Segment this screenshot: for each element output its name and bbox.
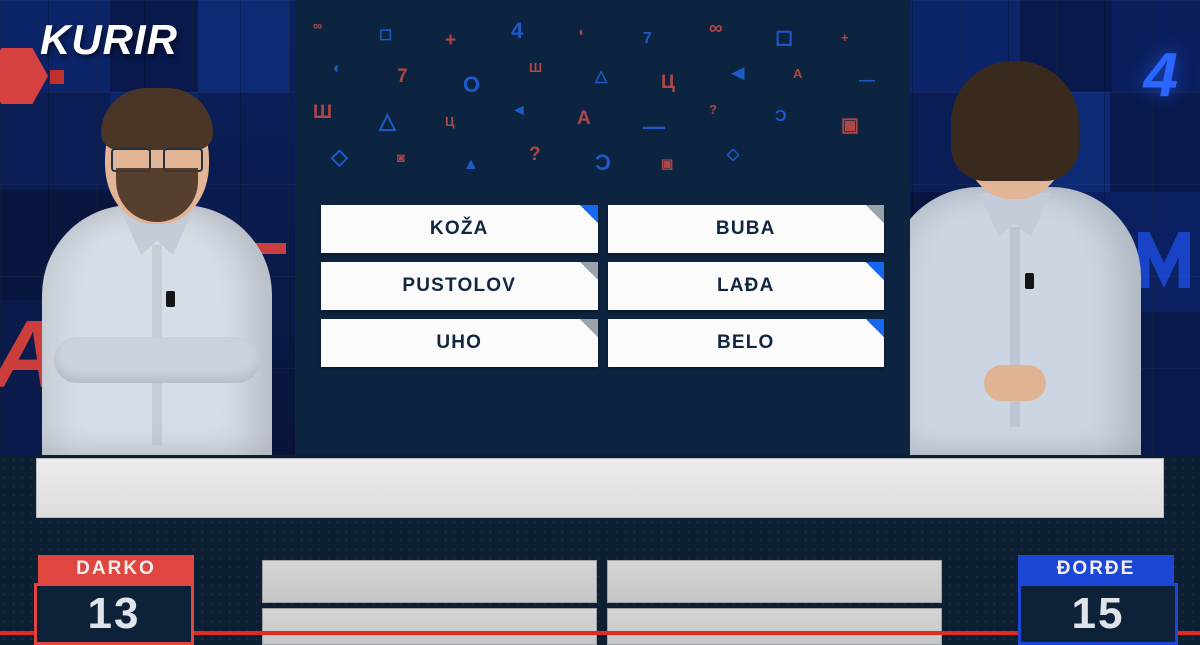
decor-symbol-icon: ◄ xyxy=(511,102,527,120)
decor-symbol-icon: + xyxy=(841,30,849,45)
decor-symbol-icon: ◖ xyxy=(577,24,585,39)
question-ticker xyxy=(36,458,1164,518)
beard xyxy=(116,168,198,222)
decor-symbol-icon: ▣ xyxy=(661,156,673,172)
decor-symbol-icon: — xyxy=(859,72,875,90)
lapel-mic-icon xyxy=(1025,273,1034,289)
card-corner-marker xyxy=(866,262,884,280)
decor-symbol-icon: 4 xyxy=(511,18,523,44)
decor-symbol-icon: ▲ xyxy=(463,156,479,174)
word-card[interactable]: BUBA xyxy=(608,205,885,253)
decor-symbol-icon: ◻ xyxy=(379,24,392,44)
decor-symbol-icon: ? xyxy=(709,102,717,117)
scoreboard-left: DARKO 13 xyxy=(34,555,194,645)
decor-symbol-icon: ◙ xyxy=(397,150,405,165)
decor-symbol-icon: Ɔ xyxy=(775,108,787,126)
contestant-right xyxy=(890,55,1140,455)
word-card-label: BELO xyxy=(717,332,775,354)
player-name-right: ĐORĐE xyxy=(1018,555,1174,583)
decor-symbol-icon: ◄ xyxy=(727,60,749,86)
decor-symbol-icon: Ш xyxy=(313,102,332,124)
crossed-arms xyxy=(54,337,260,383)
decor-symbol-icon: ? xyxy=(529,144,541,166)
decor-symbol-icon: Ɔ xyxy=(595,150,611,176)
hair xyxy=(951,61,1079,181)
decor-symbol-icon: Ц xyxy=(661,72,675,94)
contestant-left xyxy=(32,70,282,455)
word-card[interactable]: UHO xyxy=(321,319,598,367)
word-card-label: UHO xyxy=(436,332,482,354)
channel-logo: 4 xyxy=(1144,40,1178,111)
lapel-mic-icon xyxy=(166,291,175,307)
card-corner-marker xyxy=(866,205,884,223)
decor-symbol-icon: ∞ xyxy=(709,18,723,40)
decor-symbol-icon: — xyxy=(643,114,665,140)
card-corner-marker xyxy=(580,319,598,337)
decor-symbol-icon: △ xyxy=(379,108,396,134)
word-card-label: BUBA xyxy=(716,218,776,240)
card-corner-marker xyxy=(580,262,598,280)
decor-symbol-icon: A xyxy=(577,108,591,130)
word-card[interactable]: BELO xyxy=(608,319,885,367)
player-score-right: 15 xyxy=(1018,583,1178,645)
broadcast-frame: A 4 KURIR xyxy=(0,0,1200,645)
decor-symbol-icon: ◇ xyxy=(727,144,739,164)
head xyxy=(105,94,209,224)
player-score-left: 13 xyxy=(34,583,194,645)
answer-box xyxy=(262,560,597,603)
decor-symbol-icon: 7 xyxy=(643,30,652,48)
decor-symbol-icon: ◻ xyxy=(775,24,793,50)
decor-symbol-icon: 7 xyxy=(397,66,408,88)
word-card-label: LAĐA xyxy=(717,275,775,297)
quiz-board: ∞◻+4◖7∞◻+◖7ΟШ△Ц◄A—Ш△Ц◄A—?Ɔ▣◇◙▲?Ɔ▣◇ KOŽAB… xyxy=(295,0,910,455)
word-card[interactable]: LAĐA xyxy=(608,262,885,310)
answer-box xyxy=(607,560,942,603)
decor-symbol-icon: Ш xyxy=(529,60,542,75)
decor-symbol-icon: ▣ xyxy=(841,114,859,137)
card-corner-marker xyxy=(580,205,598,223)
decor-symbol-icon: Ц xyxy=(445,114,455,129)
decor-symbol-icon: Ο xyxy=(463,72,480,98)
decor-symbol-icon: + xyxy=(445,30,456,52)
word-card[interactable]: KOŽA xyxy=(321,205,598,253)
word-card-label: PUSTOLOV xyxy=(402,275,516,297)
player-name-left: DARKO xyxy=(38,555,194,583)
glasses-icon xyxy=(111,148,203,168)
hair xyxy=(101,88,213,150)
decor-symbol-icon: A xyxy=(793,66,802,81)
decorative-symbol-pattern: ∞◻+4◖7∞◻+◖7ΟШ△Ц◄A—Ш△Ц◄A—?Ɔ▣◇◙▲?Ɔ▣◇ xyxy=(295,0,910,200)
decor-symbol-icon: ◇ xyxy=(331,144,348,170)
word-card[interactable]: PUSTOLOV xyxy=(321,262,598,310)
card-corner-marker xyxy=(866,319,884,337)
network-logo: KURIR xyxy=(40,16,178,64)
decor-symbol-icon: ∞ xyxy=(313,18,322,33)
head xyxy=(963,69,1067,199)
word-card-grid: KOŽABUBAPUSTOLOVLAĐAUHOBELO xyxy=(321,205,884,367)
word-card-label: KOŽA xyxy=(430,218,489,240)
clasped-hands xyxy=(984,365,1046,401)
decor-symbol-icon: △ xyxy=(595,66,607,86)
answer-box xyxy=(262,608,597,645)
decor-symbol-icon: ◖ xyxy=(331,60,341,78)
scoreboard-right: ĐORĐE 15 xyxy=(1018,555,1178,645)
answer-box xyxy=(607,608,942,645)
